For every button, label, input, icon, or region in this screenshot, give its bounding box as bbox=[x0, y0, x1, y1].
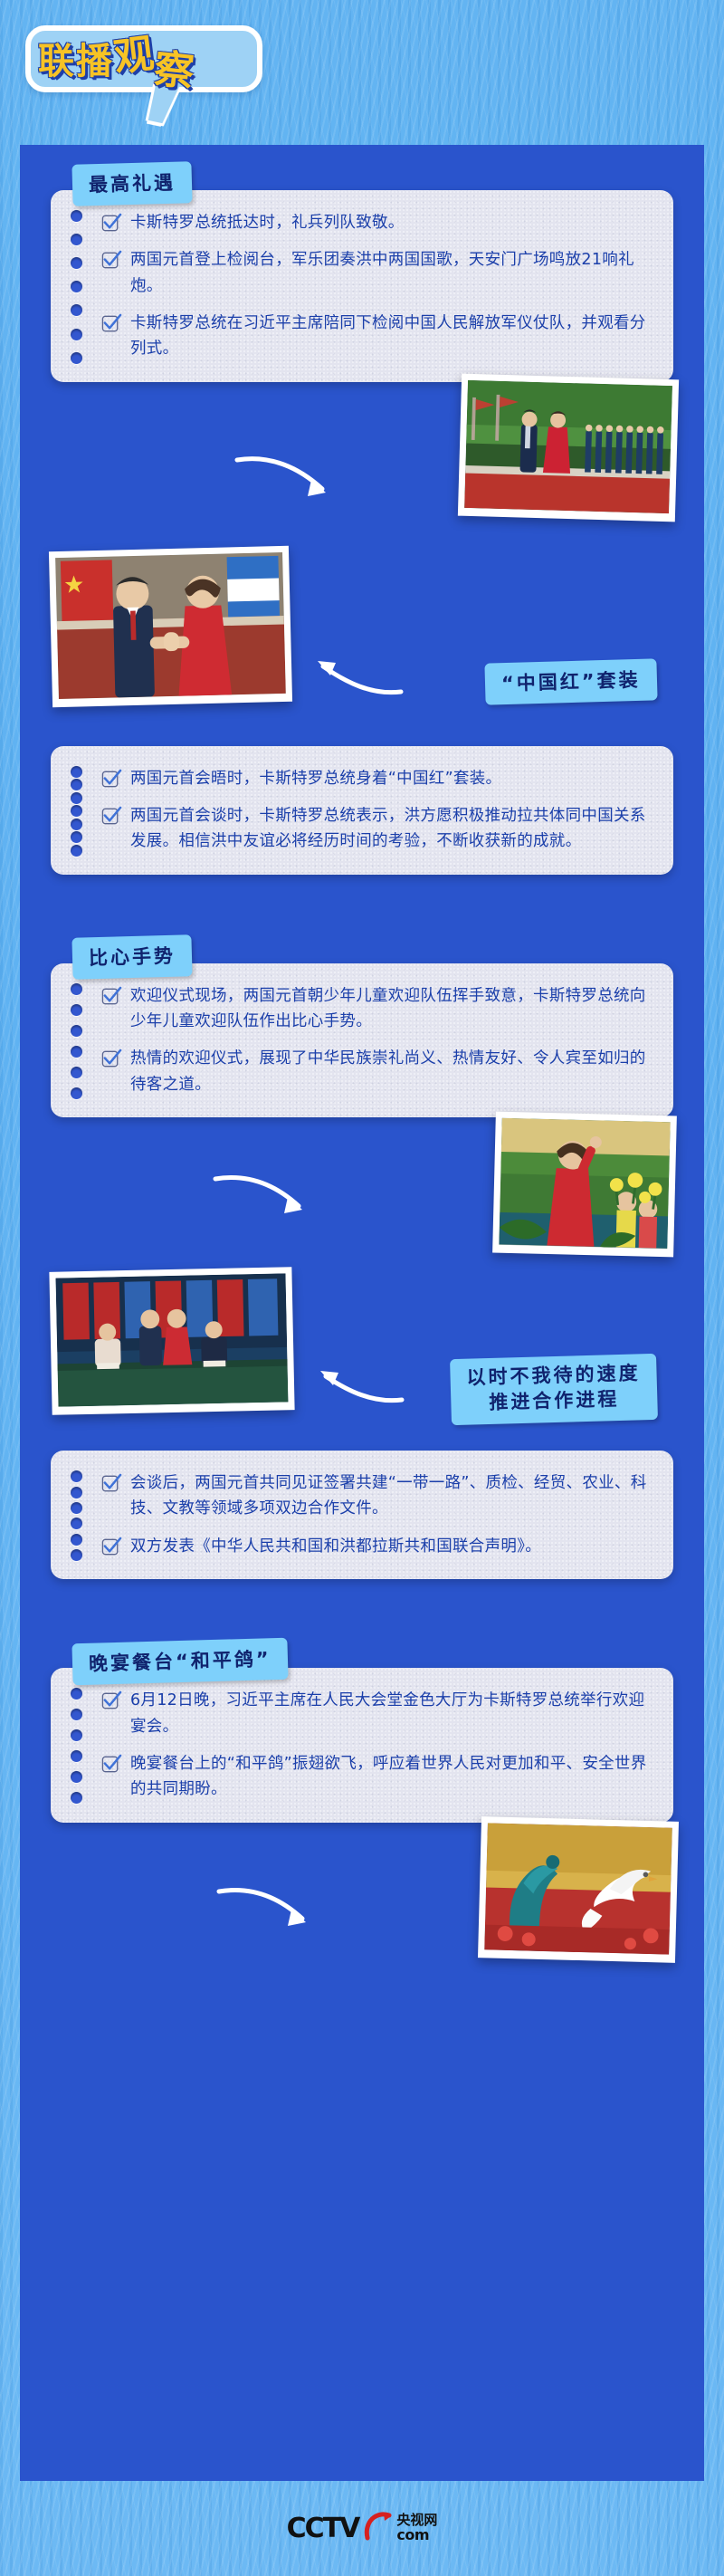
arrow-to-photo-1-icon bbox=[233, 453, 342, 507]
checkbox-check-icon bbox=[101, 806, 122, 827]
list-item-text: 6月12日晚，习近平主席在人民大会堂金色大厅为卡斯特罗总统举行欢迎宴会。 bbox=[130, 1688, 650, 1739]
list-item: 卡斯特罗总统在习近平主席陪同下检阅中国人民解放军仪仗队，并观看分列式。 bbox=[101, 311, 650, 362]
photo-signing-ceremony-art bbox=[56, 1273, 289, 1406]
footer: CCTV 央视网 com bbox=[0, 2481, 724, 2576]
cctv-wordmark: CCTV bbox=[287, 2513, 359, 2544]
section-3-tag-row: 比心手势 bbox=[20, 936, 704, 978]
section-1-card: 卡斯特罗总统抵达时，礼兵列队致敬。 两国元首登上检阅台，军乐团奏洪中两国国歌，天… bbox=[51, 190, 673, 382]
photo-honor-guard-review bbox=[458, 373, 679, 522]
list-item-text: 卡斯特罗总统在习近平主席陪同下检阅中国人民解放军仪仗队，并观看分列式。 bbox=[130, 311, 650, 362]
checkbox-check-icon bbox=[101, 986, 122, 1007]
section-2-card: 两国元首会晤时，卡斯特罗总统身着“中国红”套装。 两国元首会谈时，卡斯特罗总统表… bbox=[51, 746, 673, 875]
section-3-tag: 比心手势 bbox=[71, 934, 192, 980]
list-item: 热情的欢迎仪式，展现了中华民族崇礼尚义、热情友好、令人宾至如归的待客之道。 bbox=[101, 1046, 650, 1097]
list-item-text: 卡斯特罗总统抵达时，礼兵列队致敬。 bbox=[130, 210, 405, 235]
arrow-to-photo-3-icon bbox=[212, 1170, 320, 1222]
checkbox-check-icon bbox=[101, 1690, 122, 1711]
section-3-card: 欢迎仪式现场，两国元首朝少年儿童欢迎队伍挥手致意，卡斯特罗总统向少年儿童欢迎队伍… bbox=[51, 963, 673, 1117]
arrow-to-photo-5-icon bbox=[215, 1882, 324, 1935]
punch-holes bbox=[71, 1688, 83, 1804]
arrow-to-photo-2-icon bbox=[296, 656, 405, 701]
section-5-tag: 晚宴餐台“和平鸽” bbox=[71, 1638, 288, 1686]
photo-handshake-red-suit bbox=[49, 546, 292, 708]
list-item: 会谈后，两国元首共同见证签署共建“一带一路”、质检、经贸、农业、科技、文教等领域… bbox=[101, 1470, 650, 1522]
section-4-tag: 以时不我待的速度 推进合作进程 bbox=[450, 1354, 658, 1425]
photo-block-2: “中国红”套装 bbox=[20, 549, 704, 746]
checkbox-check-icon bbox=[101, 213, 122, 234]
infographic-page: 联播观察 最高礼遇 卡斯特罗总统抵达时，礼兵列队致敬。 bbox=[0, 0, 724, 2576]
list-item: 欢迎仪式现场，两国元首朝少年儿童欢迎队伍挥手致意，卡斯特罗总统向少年儿童欢迎队伍… bbox=[101, 983, 650, 1035]
list-item: 卡斯特罗总统抵达时，礼兵列队致敬。 bbox=[101, 210, 650, 235]
brand-logo: 联播观察 bbox=[38, 27, 197, 85]
list-item: 晚宴餐台上的“和平鸽”振翅欲飞，呼应着世界人民对更加和平、安全世界的共同期盼。 bbox=[101, 1751, 650, 1803]
list-item-text: 双方发表《中华人民共和国和洪都拉斯共和国联合声明》。 bbox=[130, 1534, 541, 1559]
punch-holes bbox=[71, 766, 83, 857]
checkbox-check-icon bbox=[101, 769, 122, 790]
section-4-card: 会谈后，两国元首共同见证签署共建“一带一路”、质检、经贸、农业、科技、文教等领域… bbox=[51, 1451, 673, 1579]
arrow-to-photo-4-icon bbox=[299, 1365, 405, 1411]
checkbox-check-icon bbox=[101, 250, 122, 271]
photo-heart-gesture-children bbox=[492, 1112, 677, 1257]
photo-heart-gesture-children-art bbox=[499, 1118, 670, 1249]
cctv-arc-icon bbox=[362, 2511, 393, 2546]
photo-block-5 bbox=[20, 1819, 704, 1991]
checkbox-check-icon bbox=[101, 1049, 122, 1069]
section-1-tag-row: 最高礼遇 bbox=[20, 163, 704, 205]
cctv-logo: CCTV 央视网 com bbox=[287, 2511, 438, 2546]
cctv-cn-text: 央视网 com bbox=[396, 2514, 437, 2543]
punch-holes bbox=[71, 983, 83, 1099]
photo-block-3 bbox=[20, 1114, 704, 1269]
photo-honor-guard-review-art bbox=[464, 380, 672, 514]
punch-holes bbox=[71, 1470, 83, 1561]
section-1-tag: 最高礼遇 bbox=[71, 161, 192, 206]
list-item: 两国元首会谈时，卡斯特罗总统表示，洪方愿积极推动拉共体同中国关系发展。相信洪中友… bbox=[101, 803, 650, 855]
logo-char-2: 播 bbox=[76, 32, 114, 84]
photo-block-1 bbox=[20, 377, 704, 549]
masthead: 联播观察 bbox=[0, 0, 724, 145]
photo-peace-dove-banquet-art bbox=[484, 1823, 672, 1955]
list-item-text: 欢迎仪式现场，两国元首朝少年儿童欢迎队伍挥手致意，卡斯特罗总统向少年儿童欢迎队伍… bbox=[130, 983, 650, 1035]
list-item-text: 热情的欢迎仪式，展现了中华民族崇礼尚义、热情友好、令人宾至如归的待客之道。 bbox=[130, 1046, 650, 1097]
photo-handshake-red-suit-art bbox=[55, 552, 286, 699]
list-item: 两国元首登上检阅台，军乐团奏洪中两国国歌，天安门广场鸣放21响礼炮。 bbox=[101, 247, 650, 299]
checkbox-check-icon bbox=[101, 1473, 122, 1494]
section-2-tag: “中国红”套装 bbox=[485, 658, 658, 704]
list-item-text: 会谈后，两国元首共同见证签署共建“一带一路”、质检、经贸、农业、科技、文教等领域… bbox=[130, 1470, 650, 1522]
checkbox-check-icon bbox=[101, 1537, 122, 1557]
content-board: 最高礼遇 卡斯特罗总统抵达时，礼兵列队致敬。 bbox=[20, 145, 704, 2481]
list-item: 6月12日晚，习近平主席在人民大会堂金色大厅为卡斯特罗总统举行欢迎宴会。 bbox=[101, 1688, 650, 1739]
list-item-text: 晚宴餐台上的“和平鸽”振翅欲飞，呼应着世界人民对更加和平、安全世界的共同期盼。 bbox=[130, 1751, 650, 1803]
checkbox-check-icon bbox=[101, 313, 122, 334]
section-5-card: 6月12日晚，习近平主席在人民大会堂金色大厅为卡斯特罗总统举行欢迎宴会。 晚宴餐… bbox=[51, 1668, 673, 1822]
list-item: 两国元首会晤时，卡斯特罗总统身着“中国红”套装。 bbox=[101, 766, 650, 791]
section-4-tag-line-1: 以时不我待的速度 bbox=[466, 1362, 641, 1388]
logo-char-3: 观 bbox=[110, 20, 158, 82]
list-item: 双方发表《中华人民共和国和洪都拉斯共和国联合声明》。 bbox=[101, 1534, 650, 1559]
section-5-tag-row: 晚宴餐台“和平鸽” bbox=[20, 1641, 704, 1682]
photo-block-4: 以时不我待的速度 推进合作进程 bbox=[20, 1269, 704, 1451]
punch-holes bbox=[71, 210, 83, 364]
list-item-text: 两国元首登上检阅台，军乐团奏洪中两国国歌，天安门广场鸣放21响礼炮。 bbox=[130, 247, 650, 299]
photo-peace-dove-banquet bbox=[478, 1816, 679, 1963]
list-item-text: 两国元首会晤时，卡斯特罗总统身着“中国红”套装。 bbox=[130, 766, 501, 791]
cctv-cn-bottom: com bbox=[396, 2526, 429, 2543]
section-4-tag-line-2: 推进合作进程 bbox=[489, 1388, 620, 1413]
list-item-text: 两国元首会谈时，卡斯特罗总统表示，洪方愿积极推动拉共体同中国关系发展。相信洪中友… bbox=[130, 803, 650, 855]
checkbox-check-icon bbox=[101, 1754, 122, 1775]
logo-char-4: 察 bbox=[152, 36, 199, 98]
logo-char-1: 联 bbox=[38, 32, 76, 84]
photo-signing-ceremony bbox=[49, 1267, 294, 1415]
